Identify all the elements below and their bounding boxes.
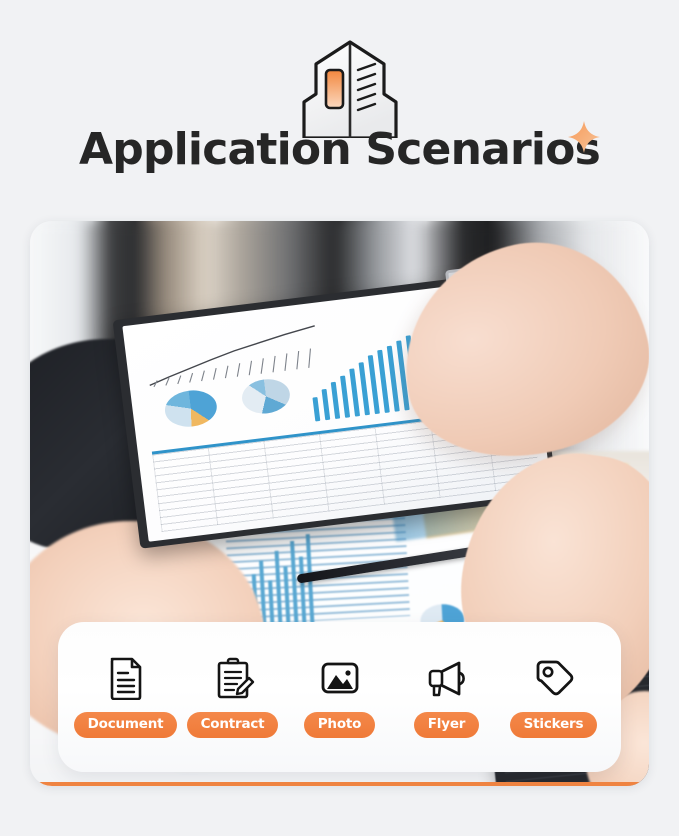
category-flyer[interactable]: Flyer bbox=[393, 656, 500, 739]
category-stickers[interactable]: Stickers bbox=[500, 656, 607, 739]
category-photo[interactable]: Photo bbox=[286, 656, 393, 739]
sparkle-icon bbox=[567, 120, 601, 154]
clipboard-pencil-icon bbox=[211, 656, 255, 700]
report-pie-chart-1 bbox=[163, 388, 219, 430]
report-pie-chart-2 bbox=[240, 377, 292, 417]
category-contract[interactable]: Contract bbox=[179, 656, 286, 739]
document-icon bbox=[104, 656, 148, 700]
category-label-stickers[interactable]: Stickers bbox=[510, 712, 598, 739]
category-label-photo[interactable]: Photo bbox=[304, 712, 376, 739]
building-icon bbox=[296, 38, 404, 138]
page-header: Application Scenarios bbox=[0, 0, 679, 210]
category-label-document[interactable]: Document bbox=[74, 712, 178, 739]
megaphone-icon bbox=[425, 656, 469, 700]
category-label-contract[interactable]: Contract bbox=[187, 712, 279, 739]
image-icon bbox=[318, 656, 362, 700]
scenario-photo-card: Document Contract Phot bbox=[30, 221, 649, 786]
page-title: Application Scenarios bbox=[79, 128, 600, 172]
tag-icon bbox=[532, 656, 576, 700]
category-label-flyer[interactable]: Flyer bbox=[414, 712, 479, 739]
category-document[interactable]: Document bbox=[72, 656, 179, 739]
category-panel: Document Contract Phot bbox=[58, 622, 621, 772]
report-line-chart bbox=[143, 323, 322, 390]
